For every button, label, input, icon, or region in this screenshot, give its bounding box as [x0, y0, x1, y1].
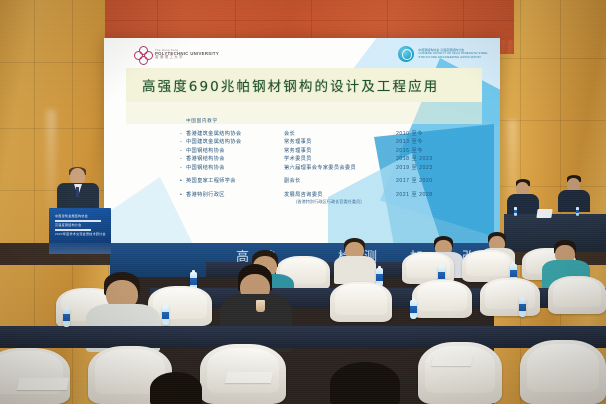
podium-line1: 中国建筑金属结构协会 — [55, 214, 88, 218]
audience-table-row-c — [0, 326, 606, 348]
slide-credential-row: -香港建筑金属结构协会会长2010 至今 — [180, 130, 486, 138]
water-bottle-c1 — [63, 308, 70, 327]
slide-row-role: 常务理事员 — [284, 138, 396, 146]
d1-hair — [150, 372, 202, 404]
slide-row-years: 2010 至今 — [396, 130, 423, 138]
water-bottle-c2 — [162, 306, 169, 325]
slide-row-years: 2021 至 2028 — [396, 191, 433, 199]
panelist-left-torso — [507, 194, 539, 216]
a1-torso — [334, 256, 376, 284]
slide-credential-row: -中国钢结构协会常务理事员2015 至今 — [180, 147, 486, 155]
panel-water-bottle-2 — [576, 207, 579, 216]
slide-row-org: 中国建筑金属结构协会 — [186, 138, 284, 146]
slide-credential-row: -中国钢结构协会第六届理事会专家委员会委员2019 至 2023 — [180, 164, 486, 172]
chair-d4 — [418, 342, 502, 404]
slide-row-role: 会长 — [284, 130, 396, 138]
panelist-right-torso — [558, 190, 590, 212]
hk-polyu-logo: The Hong Kong POLYTECHNIC UNIVERSITY 香港理… — [134, 46, 219, 63]
podium-line3: 2024年度学术交流会暨技术研讨会 — [55, 232, 106, 236]
panelist-laptop — [536, 209, 552, 218]
podium-line2: 高强度钢结构分会 — [55, 223, 81, 227]
podium: 中国建筑金属结构协会 高强度钢结构分会 2024年度学术交流会暨技术研讨会 — [49, 208, 111, 254]
slide-row-org: 香港建筑金属结构协会 — [186, 130, 284, 138]
chair-d1 — [0, 348, 70, 404]
speaker-at-podium: 中国建筑金属结构协会 高强度钢结构分会 2024年度学术交流会暨技术研讨会 — [44, 168, 116, 252]
slide-credentials-list: -香港建筑金属结构协会会长2010 至今-中国建筑金属结构协会常务理事员2013… — [180, 130, 486, 205]
chair-c4 — [412, 280, 472, 318]
slide-row-org: 英国皇家工程师学会 — [186, 177, 284, 185]
slide-credential-row: •英国皇家工程师学会副会长2017 至 2020 — [180, 177, 486, 185]
slide-credential-row: -中国建筑金属结构协会常务理事员2013 至今 — [180, 138, 486, 146]
slide-row-years: 2015 至今 — [396, 147, 423, 155]
association-emblem-icon — [398, 46, 414, 62]
chair-c6 — [548, 276, 606, 314]
slide-row-role: 常务理事员 — [284, 147, 396, 155]
slide-title-band: 高强度690兆帕钢材钢构的设计及工程应用 — [126, 68, 482, 102]
polyu-line3: 香港理工大学 — [155, 56, 219, 60]
chair-c3 — [330, 282, 392, 322]
speaker-tie — [76, 187, 79, 197]
podium-skyline-graphic — [49, 243, 111, 254]
slide-row-years: 2019 至 2023 — [396, 164, 433, 172]
slide-subhead: 中国国内教学 — [186, 118, 218, 124]
slide-row-role: 第六届理事会专家委员会委员 — [284, 164, 396, 172]
paper-cup-c1 — [256, 300, 265, 312]
slide-row-role: 副会长 — [284, 177, 396, 185]
assoc-line3: STRUCTURE ENGINEERING ASSOCIATION — [418, 56, 488, 59]
conference-hall-photo: The Hong Kong POLYTECHNIC UNIVERSITY 香港理… — [0, 0, 606, 404]
slide-row-role: 发展局咨询委员 — [284, 191, 396, 199]
paper-sheet-3 — [431, 356, 473, 366]
slide-title: 高强度690兆帕钢材钢构的设计及工程应用 — [126, 75, 439, 95]
d2-hair — [330, 362, 400, 404]
slide-row-subnote: (香港特别行政区行政长官委任委员) — [296, 199, 486, 205]
panel-water-bottle-1 — [514, 207, 517, 216]
slide-row-role: 学术委员员 — [284, 155, 396, 163]
slide-row-org: 香港钢结构协会 — [186, 155, 284, 163]
association-logo: 中国钢结构协会 高强度钢结构分会 CHINESE SOCIETY OF HIGH… — [398, 46, 488, 62]
slide-row-years: 2017 至 2020 — [396, 177, 433, 185]
wall-panel-center-lower-right — [500, 40, 514, 54]
slide-row-org: 香港特别行政区 — [186, 191, 284, 199]
polyu-emblem-icon — [134, 46, 151, 63]
wall-panel-center-upper — [105, 0, 514, 40]
slide-row-years: 2013 至今 — [396, 138, 423, 146]
slide-row-org: 中国钢结构协会 — [186, 164, 284, 172]
presentation-screen: The Hong Kong POLYTECHNIC UNIVERSITY 香港理… — [104, 38, 500, 243]
slide-credential-row: •香港特别行政区发展局咨询委员2021 至 2028 — [180, 191, 486, 199]
water-bottle-c3 — [410, 300, 417, 319]
paper-sheet-2 — [225, 372, 273, 383]
water-bottle-c4 — [519, 298, 526, 317]
slide-row-years: 2018 至 2023 — [396, 155, 433, 163]
chair-c5 — [480, 278, 540, 316]
chair-d5 — [520, 340, 606, 404]
slide-credential-row: -香港钢结构协会学术委员员2018 至 2023 — [180, 155, 486, 163]
paper-sheet-1 — [17, 378, 70, 390]
slide-row-org: 中国钢结构协会 — [186, 147, 284, 155]
